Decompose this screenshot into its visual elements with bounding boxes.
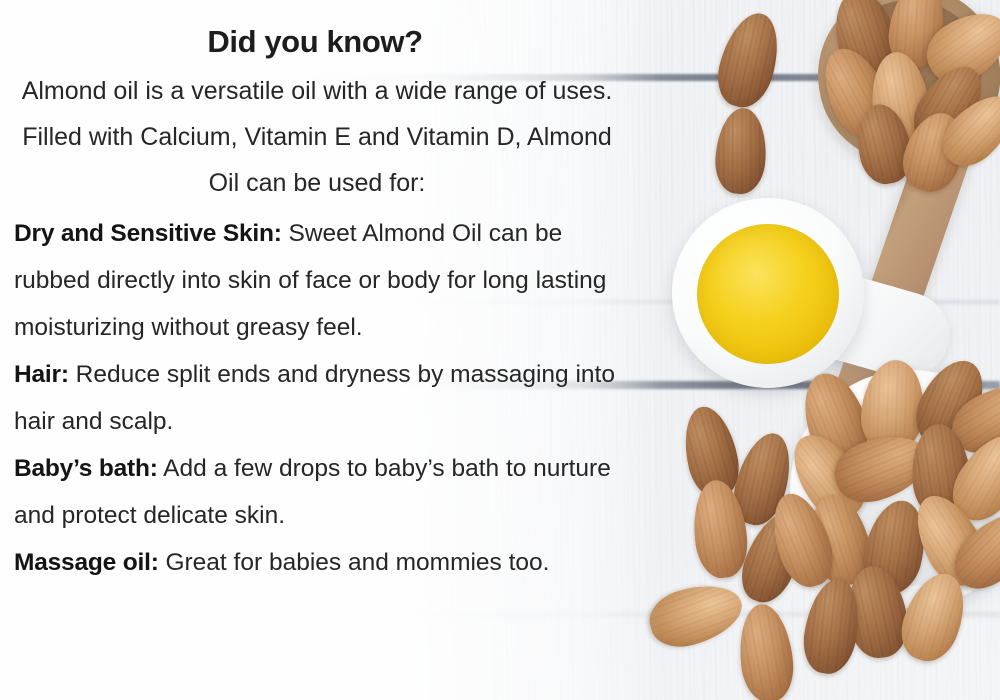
tip-label: Massage oil: [14,549,159,576]
tip-label: Baby’s bath: [14,455,158,482]
intro-paragraph: Almond oil is a versatile oil with a wid… [0,68,640,206]
infographic-canvas: Did you know? Almond oil is a versatile … [0,0,1000,700]
tip-text: Reduce split ends and dryness by massagi… [14,361,615,435]
tip-text: Great for babies and mommies too. [159,549,550,576]
page-title: Did you know? [0,0,630,68]
tips-list: Dry and Sensitive Skin: Sweet Almond Oil… [0,206,640,586]
tip-label: Hair: [14,361,69,388]
tip-item-massage-oil: Massage oil: Great for babies and mommie… [14,539,629,586]
text-column: Did you know? Almond oil is a versatile … [0,0,640,700]
tip-item-hair: Hair: Reduce split ends and dryness by m… [14,351,629,445]
tip-label: Dry and Sensitive Skin: [14,220,282,247]
tip-item-babys-bath: Baby’s bath: Add a few drops to baby’s b… [14,445,629,539]
tip-item-dry-and-sensitive-skin: Dry and Sensitive Skin: Sweet Almond Oil… [14,210,629,351]
almond-oil-surface [697,224,839,364]
